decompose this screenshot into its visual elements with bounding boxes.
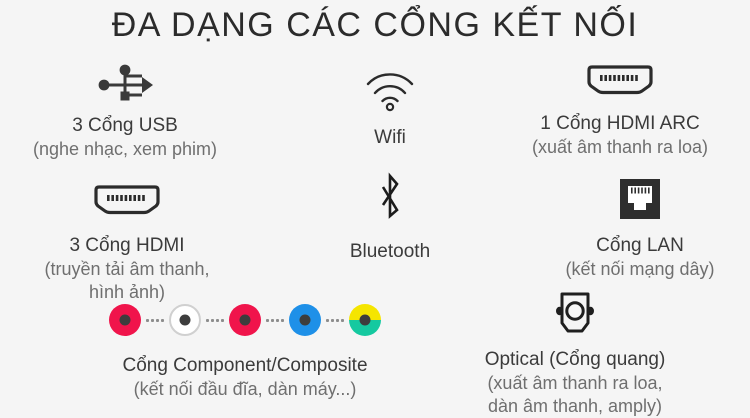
rca-yellow-green-video-y [349,304,381,336]
feature-optical: Optical (Cổng quang) (xuất âm thanh ra l… [405,288,745,418]
rca-pin [120,315,131,326]
feature-component-subtitle: (kết nối đầu đĩa, dàn máy...) [70,378,420,401]
page-title: ĐA DẠNG CÁC CỔNG KẾT NỐI [0,6,750,45]
dot-separator [201,319,229,322]
feature-hdmi-subtitle-line1: (truyền tải âm thanh, [0,258,262,281]
feature-lan-title: Cổng LAN [525,234,750,258]
dot-separator [141,319,169,322]
hdmi-port-icon [0,180,262,218]
lan-rj45-icon [525,176,750,220]
feature-usb-title: 3 Cổng USB [0,114,260,138]
feature-optical-subtitle-line1: (xuất âm thanh ra loa, [405,372,745,395]
feature-hdmi-arc: 1 Cổng HDMI ARC (xuất âm thanh ra loa) [490,60,750,159]
usb-icon [0,62,260,104]
feature-wifi-title: Wifi [300,126,480,150]
feature-wifi: Wifi [300,66,480,150]
rca-pin [360,315,371,326]
feature-hdmi: 3 Cổng HDMI (truyền tải âm thanh, hình ả… [0,180,262,304]
feature-component-title: Cổng Component/Composite [70,354,420,378]
feature-hdmi-arc-title: 1 Cổng HDMI ARC [490,112,750,136]
bluetooth-icon [300,172,480,226]
feature-optical-title: Optical (Cổng quang) [405,348,745,372]
hdmi-port-icon [490,60,750,98]
dot-separator [321,319,349,322]
feature-bluetooth: Bluetooth [300,172,480,264]
wifi-icon [300,66,480,112]
feature-lan-subtitle: (kết nối mạng dây) [525,258,750,281]
rca-connectors-icon [70,300,420,340]
feature-hdmi-title: 3 Cổng HDMI [0,234,262,258]
rca-red-video-pr [229,304,261,336]
rca-pin [180,315,191,326]
dot-separator [261,319,289,322]
rca-pin [300,315,311,326]
rca-white-right-audio [169,304,201,336]
feature-lan: Cổng LAN (kết nối mạng dây) [525,176,750,281]
feature-usb-subtitle: (nghe nhạc, xem phim) [0,138,260,161]
optical-toslink-icon [405,288,745,338]
feature-optical-subtitle-line2: dàn âm thanh, amply) [405,395,745,418]
rca-pin [240,315,251,326]
feature-component-composite: Cổng Component/Composite (kết nối đầu đĩ… [70,300,420,401]
feature-bluetooth-title: Bluetooth [300,240,480,264]
infographic-root: ĐA DẠNG CÁC CỔNG KẾT NỐI 3 Cổng USB (ngh… [0,0,750,409]
rca-blue-video-pb [289,304,321,336]
feature-usb: 3 Cổng USB (nghe nhạc, xem phim) [0,62,260,161]
rca-red-left-audio [109,304,141,336]
feature-hdmi-arc-subtitle: (xuất âm thanh ra loa) [490,136,750,159]
